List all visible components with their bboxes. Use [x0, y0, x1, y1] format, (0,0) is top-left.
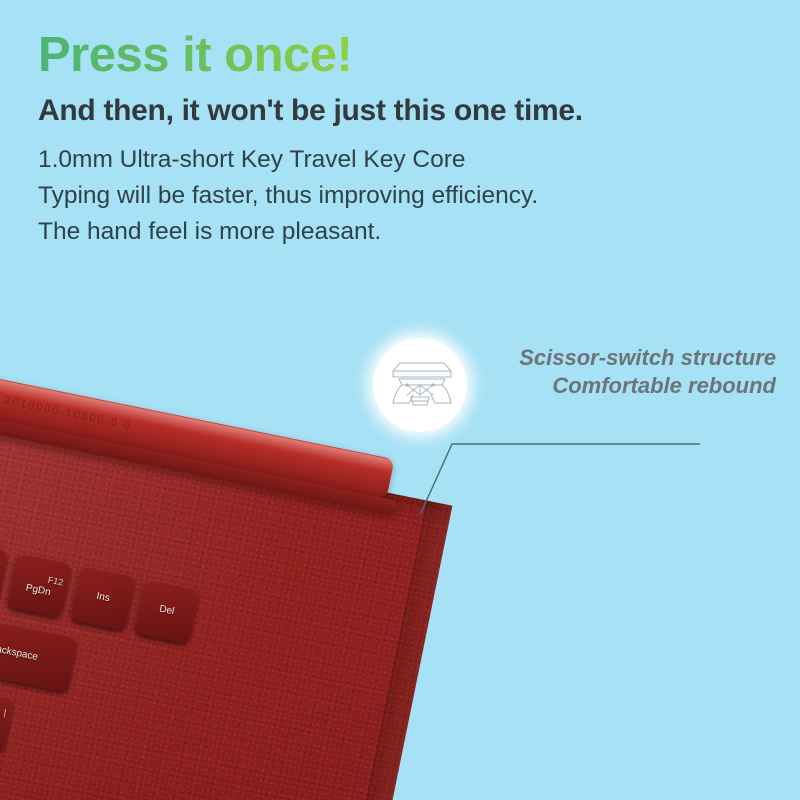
body-line: Typing will be faster, thus improving ef… — [38, 178, 768, 214]
subheadline: And then, it won't be just this one time… — [38, 92, 768, 130]
keyboard-spine: 2010000-10800-0 0 — [0, 321, 394, 499]
key-pgdn[interactable]: F12PgDn — [6, 552, 72, 618]
body-text: 1.0mm Ultra-short Key Travel Key Core Ty… — [38, 142, 768, 250]
key-backspace[interactable]: Backspace — [0, 614, 79, 693]
callout-line: Comfortable rebound — [420, 372, 776, 400]
key-row-number-row: *8(9)0_-+=Backspace — [0, 549, 79, 693]
key-deck: F8PrtScrF9HomeF10EndF11PgUpF12PgDnInsDel… — [0, 484, 426, 800]
key-pgup[interactable]: F11PgUp — [0, 539, 9, 605]
keyboard-cover: 2010000-10800-0 0 F8PrtScrF9HomeF10EndF1… — [0, 354, 452, 800]
page-title: Press it once! — [38, 26, 768, 84]
key-label: Ins — [95, 592, 110, 604]
body-line: The hand feel is more pleasant. — [38, 214, 768, 250]
key-secondary-label: | — [3, 708, 7, 717]
key-row-function-row: F8PrtScrF9HomeF10EndF11PgUpF12PgDnInsDel — [0, 487, 200, 644]
key-del[interactable]: Del — [134, 578, 200, 644]
alcantara-fabric — [0, 354, 452, 800]
key-label: Del — [158, 605, 175, 618]
body-line: 1.0mm Ultra-short Key Travel Key Core — [38, 142, 768, 178]
key--[interactable]: |\ — [0, 687, 14, 753]
copy-block: Press it once! And then, it won't be jus… — [38, 26, 768, 250]
key-row-qwerty-row: IOP{[}]|\ — [0, 622, 14, 753]
key-ins[interactable]: Ins — [70, 565, 136, 631]
cover-right-edge — [315, 501, 452, 800]
keyboard-lip — [0, 360, 398, 515]
key-label: Backspace — [0, 643, 39, 663]
spine-highlight — [0, 322, 394, 473]
callout-line: Scissor-switch structure — [420, 344, 776, 372]
key-secondary-label: F12 — [47, 576, 64, 588]
callout-text: Scissor-switch structure Comfortable reb… — [420, 344, 776, 400]
key-label: PgDn — [25, 583, 52, 598]
product-banner: Press it once! And then, it won't be jus… — [0, 0, 800, 800]
spine-print: 2010000-10800-0 0 — [3, 394, 133, 432]
